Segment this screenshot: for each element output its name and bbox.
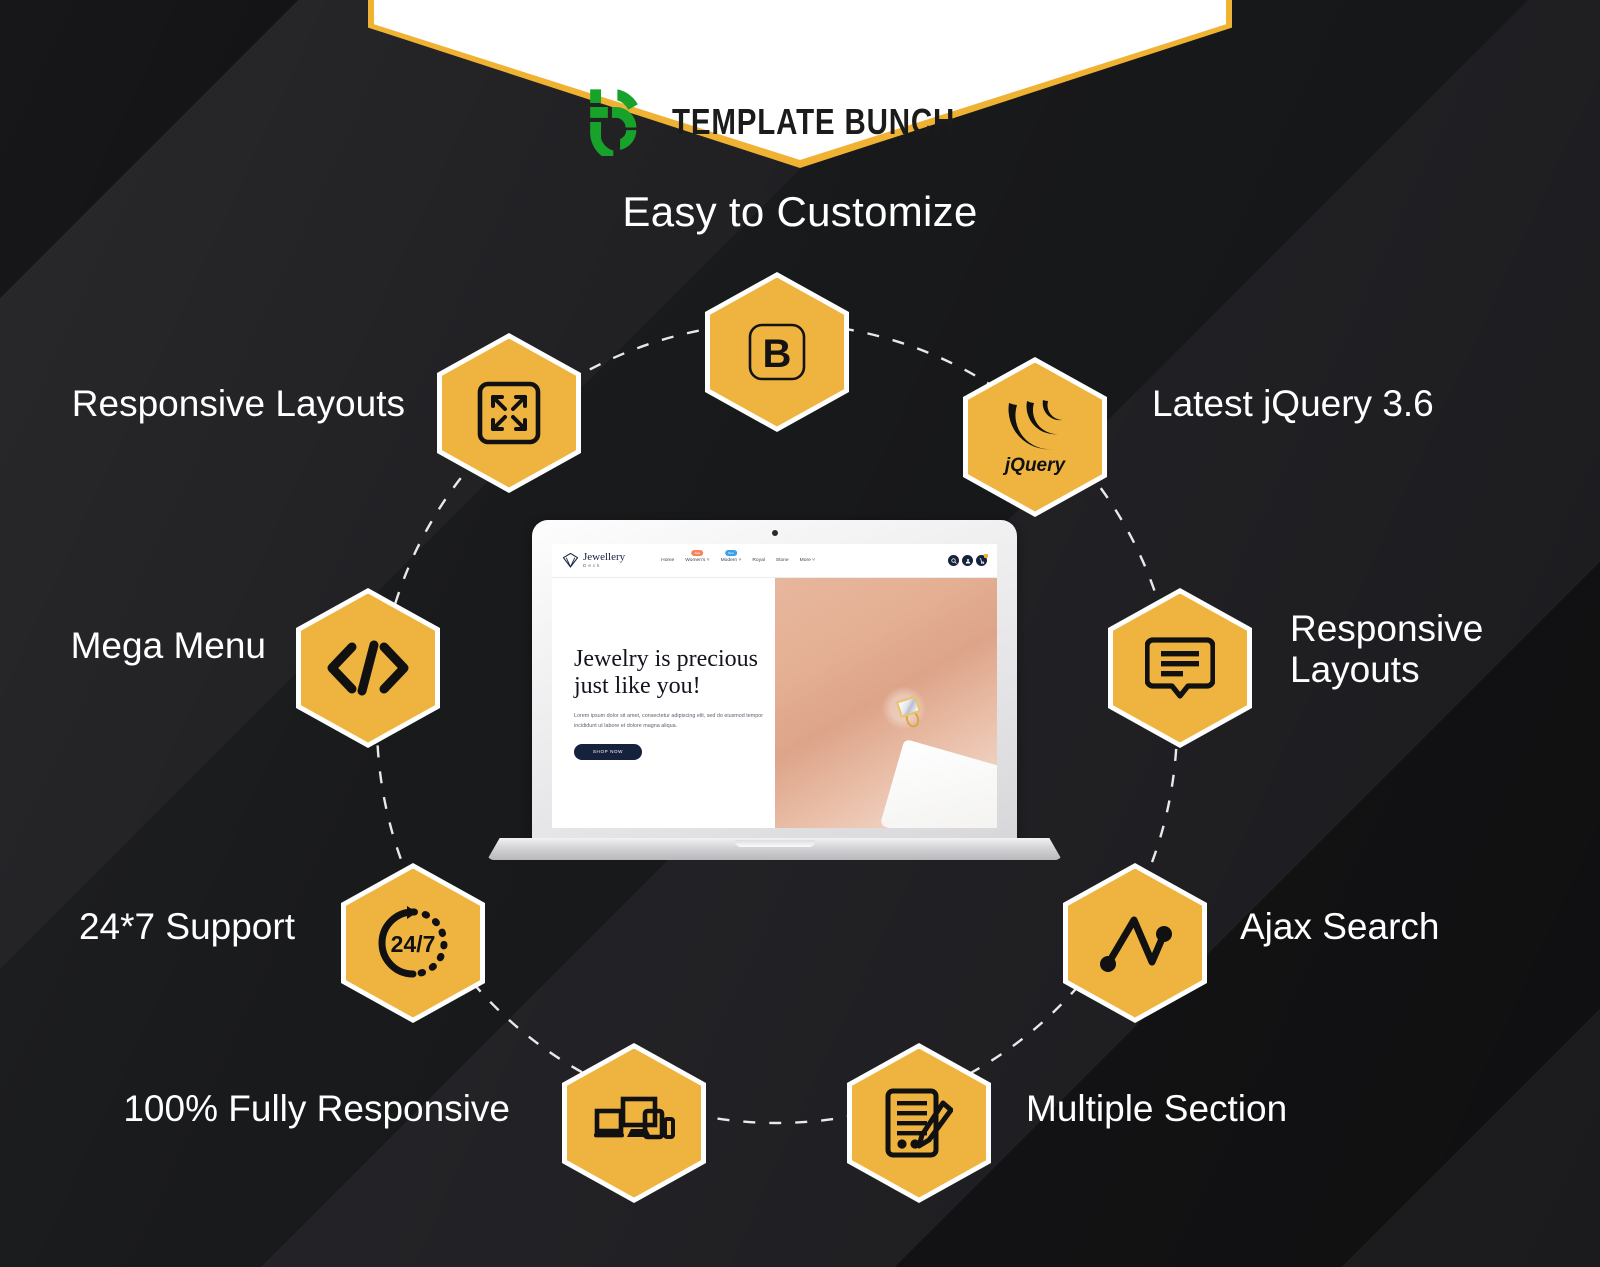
jquery-logo-icon: jQuery [987,397,1083,477]
site-logo-secondary: Deck [583,564,625,569]
feature-label-multiple-section: Multiple Section [1026,1088,1426,1129]
site-menu: Home SaleWomen's ˅ NewModern ˅ Royal Sto… [661,558,815,563]
sleeve-shape [880,739,997,828]
zigzag-graph-icon [1098,912,1172,974]
site-logo-primary: Jewellery [583,552,625,563]
hex-inner [1113,594,1247,743]
feature-label-jquery: Latest jQuery 3.6 [1152,383,1592,424]
laptop-screen: Jewellery Deck Home SaleWomen's ˅ NewMod… [552,544,997,828]
ring-graphic [893,695,927,732]
page-title: Easy to Customize [0,188,1600,236]
site-action-icons [948,555,987,566]
code-brackets-icon [326,639,410,697]
shop-now-button[interactable]: SHOP NOW [574,744,642,760]
cart-count-badge [984,554,988,558]
hero-paragraph: Lorem ipsum dolor sit amet, consectetur … [574,711,775,732]
multi-device-icon [593,1095,675,1151]
feature-label-fully-responsive: 100% Fully Responsive [0,1088,510,1129]
laptop-mockup: Jewellery Deck Home SaleWomen's ˅ NewMod… [487,520,1062,860]
hex-inner [301,594,435,743]
expand-arrows-icon [476,380,542,446]
laptop-base-notch [735,840,815,847]
site-navbar: Jewellery Deck Home SaleWomen's ˅ NewMod… [552,544,997,578]
hero-image-hand-with-ring [775,578,998,828]
menu-label: Home [661,558,674,563]
hex-inner: jQuery [968,363,1102,512]
site-menu-item-royal[interactable]: Royal [752,558,765,563]
laptop-lid: Jewellery Deck Home SaleWomen's ˅ NewMod… [532,520,1017,845]
hero-heading-line2: just like you! [574,673,701,699]
brand-logo: TEMPLATE BUNCH [0,88,1600,156]
feature-label-support: 24*7 Support [0,906,295,947]
hex-inner [852,1049,986,1198]
badge-new: New [725,550,737,556]
hex-inner [1068,869,1202,1018]
site-menu-item-home[interactable]: Home [661,558,674,563]
svg-text:B: B [763,332,792,376]
menu-label: Women's [685,558,705,563]
hex-inner [567,1049,701,1198]
menu-label: Modern [721,558,738,563]
hex-inner [442,339,576,488]
site-menu-item-modern[interactable]: NewModern ˅ [721,558,742,563]
tb-monogram-icon [582,88,650,156]
hero-heading-line1: Jewelry is precious [574,646,758,672]
svg-text:jQuery: jQuery [1002,455,1067,476]
feature-label-ajax-search: Ajax Search [1240,906,1590,947]
hex-inner: B [710,278,844,427]
menu-label: More [800,558,811,563]
document-pencil-icon [885,1087,953,1159]
menu-label: Stone [776,558,789,563]
site-menu-item-womens[interactable]: SaleWomen's ˅ [685,558,709,563]
bootstrap-b-icon: B [745,320,809,384]
menu-label: Royal [752,558,765,563]
chat-bubble-icon [1145,635,1215,701]
24-7-support-icon: 24/7 [374,904,452,982]
user-account-icon[interactable] [962,555,973,566]
feature-label-responsive-chat: Responsive Layouts [1290,608,1590,691]
site-menu-item-stone[interactable]: Stone [776,558,789,563]
brand-name: TEMPLATE BUNCH [672,101,955,143]
diamond-icon [562,552,579,569]
feature-label-mega-menu: Mega Menu [0,625,266,666]
feature-label-responsive-expand: Responsive Layouts [0,383,405,424]
hero-content: Jewelry is precious just like you! Lorem… [552,578,775,828]
badge-sale: Sale [692,550,704,556]
site-menu-item-more[interactable]: More ˅ [800,558,815,563]
search-icon[interactable] [948,555,959,566]
webcam-icon [772,530,778,536]
hex-inner: 24/7 [346,869,480,1018]
site-hero: Jewelry is precious just like you! Lorem… [552,578,997,828]
site-logo[interactable]: Jewellery Deck [562,552,625,569]
shopping-cart-icon[interactable] [976,555,987,566]
svg-text:24/7: 24/7 [391,931,436,957]
